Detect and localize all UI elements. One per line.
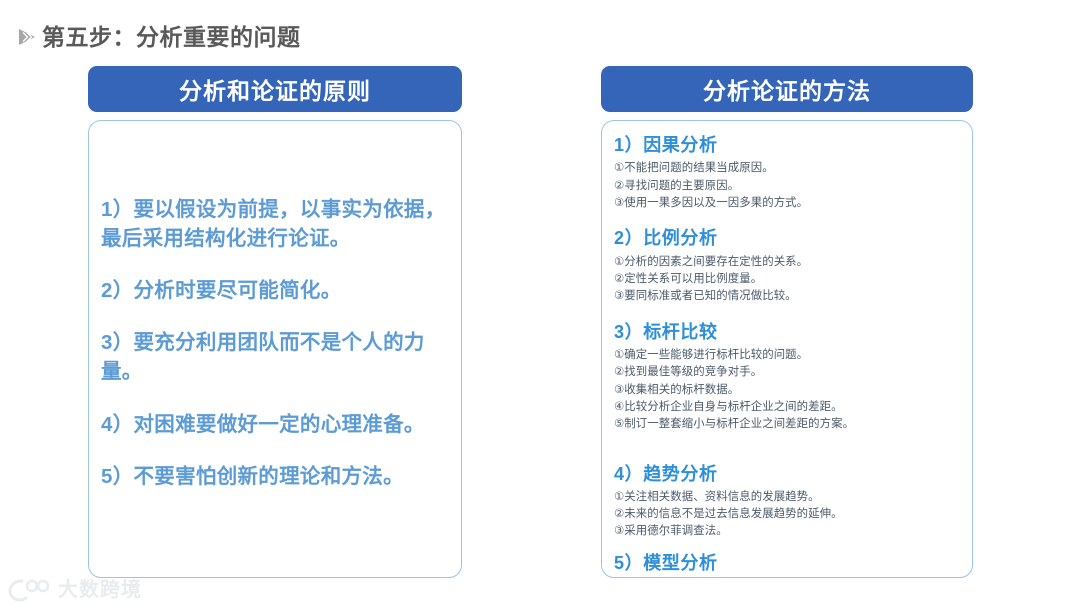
list-item: 4）对困难要做好一定的心理准备。	[101, 410, 451, 439]
dashu-logo-icon	[8, 577, 52, 603]
page-title: 第五步：分析重要的问题	[14, 24, 301, 50]
list-item: ②寻找问题的主要原因。	[614, 178, 960, 195]
list-item: ③使用一果多因以及一因多果的方式。	[614, 195, 960, 212]
list-item: ②未来的信息不是过去信息发展趋势的延伸。	[614, 506, 960, 523]
list-item: ①关注相关数据、资料信息的发展趋势。	[614, 489, 960, 506]
list-item: ②找到最佳等级的竞争对手。	[614, 364, 960, 381]
method-group-title: 2）比例分析	[614, 226, 960, 250]
principles-card: 分析和论证的原则 1）要以假设为前提，以事实为依据，最后采用结构化进行论证。 2…	[88, 66, 462, 578]
page-title-text: 第五步：分析重要的问题	[42, 26, 301, 49]
method-group-title: 4）趋势分析	[614, 462, 960, 486]
method-point-list: ①不能把问题的结果当成原因。 ②寻找问题的主要原因。 ③使用一果多因以及一因多果…	[614, 160, 960, 212]
watermark: 大数跨境	[8, 577, 142, 603]
list-item: ③收集相关的标杆数据。	[614, 382, 960, 399]
method-group: 4）趋势分析 ①关注相关数据、资料信息的发展趋势。 ②未来的信息不是过去信息发展…	[614, 462, 960, 541]
list-item: 3）要充分利用团队而不是个人的力量。	[101, 328, 451, 386]
list-item: ②定性关系可以用比例度量。	[614, 271, 960, 288]
method-group: 3）标杆比较 ①确定一些能够进行标杆比较的问题。 ②找到最佳等级的竞争对手。 ③…	[614, 320, 960, 434]
methods-card-header: 分析论证的方法	[601, 66, 973, 112]
list-item: ①确定一些能够进行标杆比较的问题。	[614, 347, 960, 364]
methods-card: 分析论证的方法 1）因果分析 ①不能把问题的结果当成原因。 ②寻找问题的主要原因…	[601, 66, 973, 578]
list-item: ⑤制订一整套缩小与标杆企业之间差距的方案。	[614, 416, 960, 433]
method-group: 1）因果分析 ①不能把问题的结果当成原因。 ②寻找问题的主要原因。 ③使用一果多…	[614, 133, 960, 212]
principles-card-header: 分析和论证的原则	[88, 66, 462, 112]
list-item: 5）不要害怕创新的理论和方法。	[101, 462, 451, 491]
methods-card-body: 1）因果分析 ①不能把问题的结果当成原因。 ②寻找问题的主要原因。 ③使用一果多…	[601, 120, 973, 578]
method-point-list: ①分析的因素之间要存在定性的关系。 ②定性关系可以用比例度量。 ③要同标准或者已…	[614, 254, 960, 306]
method-group-title: 3）标杆比较	[614, 320, 960, 344]
list-item: ④比较分析企业自身与标杆企业之间的差距。	[614, 399, 960, 416]
play-triangle-icon	[14, 24, 40, 50]
method-group-title: 5）模型分析	[614, 551, 960, 575]
method-point-list: ①关注相关数据、资料信息的发展趋势。 ②未来的信息不是过去信息发展趋势的延伸。 …	[614, 489, 960, 541]
list-item: ①分析的因素之间要存在定性的关系。	[614, 254, 960, 271]
list-item: ③采用德尔菲调查法。	[614, 523, 960, 540]
method-group: 5）模型分析 ①要体现咨询公司具有的实力及特色。 ②采用大量的资料与项目经验作为…	[614, 551, 960, 578]
watermark-text: 大数跨境	[58, 580, 142, 600]
method-group-title: 1）因果分析	[614, 133, 960, 157]
method-point-list: ①确定一些能够进行标杆比较的问题。 ②找到最佳等级的竞争对手。 ③收集相关的标杆…	[614, 347, 960, 434]
list-item: ①不能把问题的结果当成原因。	[614, 160, 960, 177]
principles-card-body: 1）要以假设为前提，以事实为依据，最后采用结构化进行论证。 2）分析时要尽可能简…	[88, 120, 462, 578]
method-group: 2）比例分析 ①分析的因素之间要存在定性的关系。 ②定性关系可以用比例度量。 ③…	[614, 226, 960, 305]
list-item: 1）要以假设为前提，以事实为依据，最后采用结构化进行论证。	[101, 195, 451, 253]
principles-list: 1）要以假设为前提，以事实为依据，最后采用结构化进行论证。 2）分析时要尽可能简…	[101, 143, 451, 491]
list-item: 2）分析时要尽可能简化。	[101, 276, 451, 305]
list-item: ③要同标准或者已知的情况做比较。	[614, 288, 960, 305]
